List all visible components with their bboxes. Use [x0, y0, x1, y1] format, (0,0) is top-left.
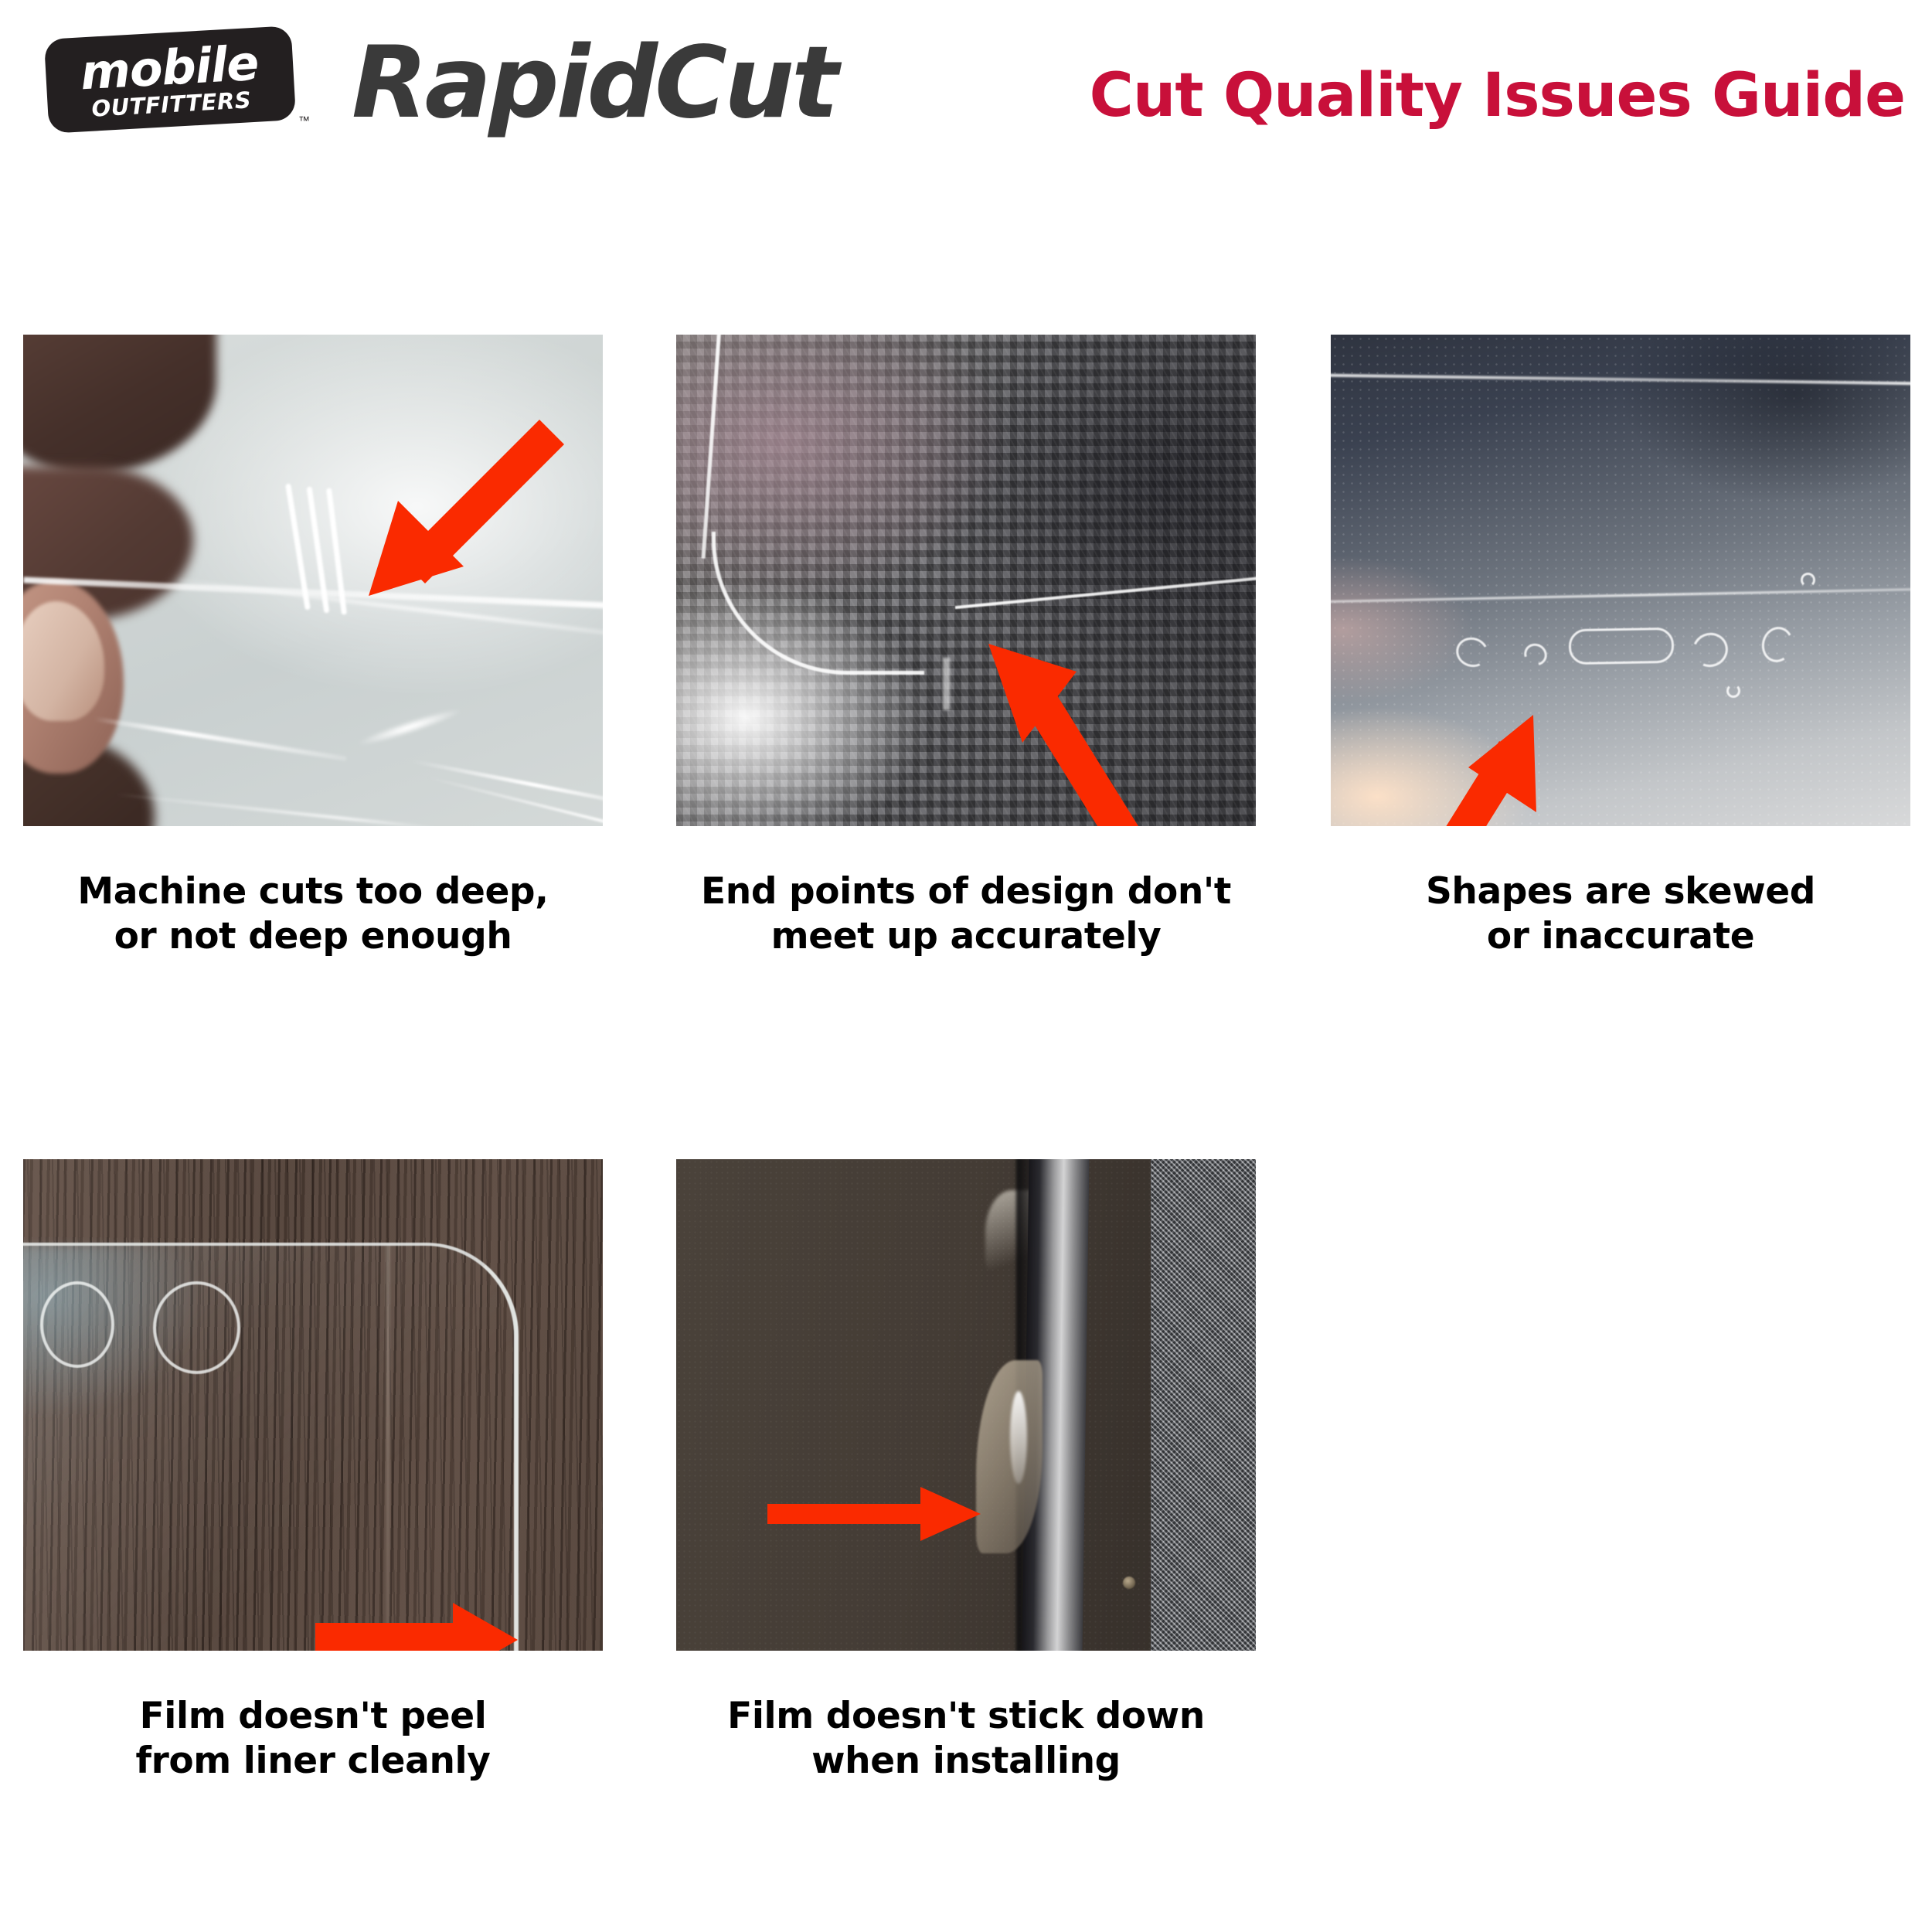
product-name: RapidCut	[352, 29, 835, 138]
issue-card-stick-down: Film doesn't stick down when installing	[676, 1159, 1256, 1784]
arrow-right-icon	[23, 1159, 603, 1651]
issue-card-end-points: End points of design don't meet up accur…	[676, 335, 1256, 959]
issue-card-cut-depth: Machine cuts too deep, or not deep enoug…	[23, 335, 603, 959]
issue-photo-skewed-shapes	[1331, 335, 1910, 826]
arrow-up-right-icon	[1331, 335, 1910, 826]
arrow-right-icon	[676, 1159, 1256, 1651]
trademark-symbol: ™	[298, 114, 310, 128]
issue-photo-peel-liner	[23, 1159, 603, 1651]
issue-card-peel-liner: Film doesn't peel from liner cleanly	[23, 1159, 603, 1784]
page-title: Cut Quality Issues Guide	[1090, 63, 1905, 128]
issue-caption-skewed-shapes: Shapes are skewed or inaccurate	[1331, 869, 1910, 959]
arrow-up-left-icon	[676, 335, 1256, 826]
issue-photo-cut-depth	[23, 335, 603, 826]
page-header: mobile OUTFITTERS ™ RapidCut Cut Quality…	[0, 0, 1932, 232]
issue-photo-stick-down	[676, 1159, 1256, 1651]
issue-caption-end-points: End points of design don't meet up accur…	[676, 869, 1256, 959]
issue-caption-peel-liner: Film doesn't peel from liner cleanly	[23, 1694, 603, 1784]
issue-photo-end-points	[676, 335, 1256, 826]
brand-logo: mobile OUTFITTERS	[44, 26, 296, 134]
issue-card-skewed-shapes: Shapes are skewed or inaccurate	[1331, 335, 1910, 959]
issue-caption-stick-down: Film doesn't stick down when installing	[676, 1694, 1256, 1784]
arrow-down-left-icon	[23, 335, 603, 826]
issue-caption-cut-depth: Machine cuts too deep, or not deep enoug…	[23, 869, 603, 959]
